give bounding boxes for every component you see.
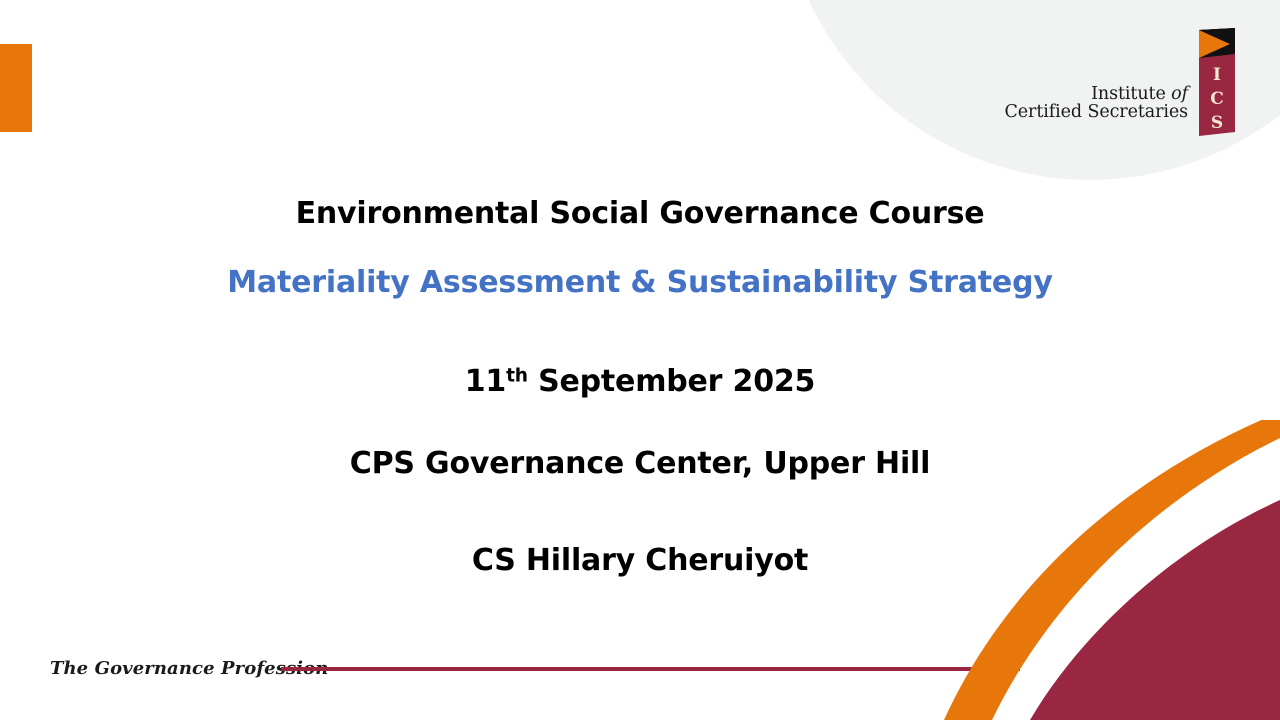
wordmark-line-2: Certified Secretaries xyxy=(1005,103,1188,122)
svg-text:S: S xyxy=(1211,113,1223,133)
event-date-rest: September 2025 xyxy=(528,364,815,399)
event-date-ordinal: th xyxy=(506,365,528,386)
wordmark-of: of xyxy=(1171,84,1188,104)
footer-rule xyxy=(281,667,1020,671)
svg-text:I: I xyxy=(1213,65,1221,85)
course-subtitle: Materiality Assessment & Sustainability … xyxy=(0,265,1280,301)
wordmark-line-1: Institute of xyxy=(1005,85,1188,104)
svg-text:C: C xyxy=(1210,89,1224,109)
event-date-day: 11 xyxy=(465,364,506,399)
ics-wordmark: Institute of Certified Secretaries xyxy=(1005,85,1188,136)
event-date: 11th September 2025 xyxy=(0,364,1280,400)
presenter-name: CS Hillary Cheruiyot xyxy=(0,543,1280,579)
ics-logo: Institute of Certified Secretaries I C S xyxy=(1005,28,1238,136)
event-venue: CPS Governance Center, Upper Hill xyxy=(0,446,1280,482)
course-title: Environmental Social Governance Course xyxy=(0,196,1280,232)
ics-emblem-icon: I C S xyxy=(1196,28,1238,136)
title-block: Environmental Social Governance Course M… xyxy=(0,196,1280,579)
orange-accent-block xyxy=(0,44,32,132)
presentation-slide: Institute of Certified Secretaries I C S… xyxy=(0,0,1280,720)
wordmark-institute: Institute xyxy=(1091,84,1166,104)
